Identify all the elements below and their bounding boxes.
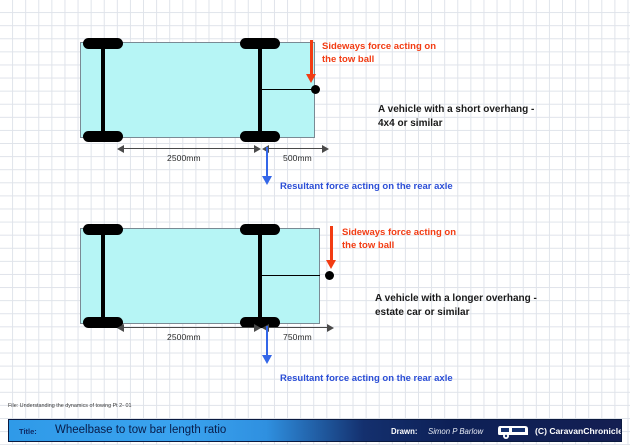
towball bbox=[311, 85, 320, 94]
description-line1: A vehicle with a longer overhang - bbox=[375, 293, 537, 304]
front-axle bbox=[101, 46, 105, 134]
caravan-icon bbox=[498, 425, 529, 440]
description-line2: 4x4 or similar bbox=[378, 118, 442, 129]
sideways-force-label: Sideways force acting on the tow ball bbox=[342, 227, 456, 252]
title-block: Title: Wheelbase to tow bar length ratio… bbox=[8, 419, 622, 442]
front-axle bbox=[101, 232, 105, 320]
wheelbase-dimension-label: 2500mm bbox=[167, 153, 201, 163]
sideways-force-label-line1: Sideways force acting on bbox=[342, 227, 456, 238]
rear-left-wheel bbox=[240, 224, 280, 235]
drawing-canvas: Sideways force acting on the tow ball A … bbox=[0, 0, 630, 445]
overhang-dimension-line bbox=[264, 148, 327, 149]
sideways-force-arrow-shaft bbox=[330, 226, 333, 262]
overhang-dimension-label: 750mm bbox=[283, 332, 312, 342]
wheelbase-dimension-line bbox=[119, 327, 259, 328]
drawing-title: Wheelbase to tow bar length ratio bbox=[55, 424, 226, 436]
short-overhang-description: A vehicle with a short overhang - 4x4 or… bbox=[378, 103, 534, 131]
vehicle-body bbox=[80, 42, 315, 138]
resultant-force-arrow-shaft bbox=[266, 326, 268, 356]
resultant-force-label: Resultant force acting on the rear axle bbox=[280, 373, 453, 384]
sideways-force-label-line1: Sideways force acting on bbox=[322, 41, 436, 52]
rear-right-wheel bbox=[240, 131, 280, 142]
overhang-dimension-arrow-right bbox=[327, 324, 334, 332]
description-line2: estate car or similar bbox=[375, 307, 470, 318]
rear-axle bbox=[258, 46, 262, 134]
front-left-wheel bbox=[83, 38, 123, 49]
wheelbase-dimension-arrow-right bbox=[254, 324, 261, 332]
resultant-force-arrow-head bbox=[262, 176, 272, 185]
towbar-line bbox=[260, 275, 320, 276]
wheelbase-dimension-arrow-left bbox=[117, 145, 124, 153]
towball bbox=[325, 271, 334, 280]
wheelbase-dimension-line bbox=[119, 148, 259, 149]
longer-overhang-vehicle bbox=[80, 228, 320, 324]
wheelbase-dimension-arrow-right bbox=[254, 145, 261, 153]
file-reference: File: Understanding the dynamics of towi… bbox=[8, 403, 131, 409]
description-line1: A vehicle with a short overhang - bbox=[378, 104, 534, 115]
wheelbase-dimension-arrow-left bbox=[117, 324, 124, 332]
sideways-force-arrow-head bbox=[326, 260, 336, 269]
drawn-by-value: Simon P Barlow bbox=[428, 427, 483, 436]
front-left-wheel bbox=[83, 224, 123, 235]
sideways-force-label-line2: the tow ball bbox=[342, 240, 394, 251]
wheelbase-dimension-label: 2500mm bbox=[167, 332, 201, 342]
vehicle-body bbox=[80, 228, 320, 324]
drawn-by-label: Drawn: bbox=[391, 427, 417, 436]
resultant-force-label: Resultant force acting on the rear axle bbox=[280, 181, 453, 192]
resultant-force-arrow-shaft bbox=[266, 147, 268, 177]
overhang-dimension-line bbox=[264, 327, 332, 328]
longer-overhang-description: A vehicle with a longer overhang - estat… bbox=[375, 292, 537, 320]
short-overhang-vehicle bbox=[80, 42, 315, 138]
copyright-notice: (C) CaravanChronicles.com bbox=[535, 426, 622, 436]
sideways-force-arrow-shaft bbox=[310, 40, 313, 76]
sideways-force-label-line2: the tow ball bbox=[322, 54, 374, 65]
towbar-line bbox=[260, 89, 315, 90]
resultant-force-arrow-head bbox=[262, 355, 272, 364]
front-right-wheel bbox=[83, 131, 123, 142]
rear-left-wheel bbox=[240, 38, 280, 49]
sideways-force-arrow-head bbox=[306, 74, 316, 83]
title-label: Title: bbox=[19, 427, 37, 436]
rear-axle bbox=[258, 232, 262, 320]
overhang-dimension-arrow-right bbox=[322, 145, 329, 153]
sideways-force-label: Sideways force acting on the tow ball bbox=[322, 41, 436, 66]
overhang-dimension-label: 500mm bbox=[283, 153, 312, 163]
